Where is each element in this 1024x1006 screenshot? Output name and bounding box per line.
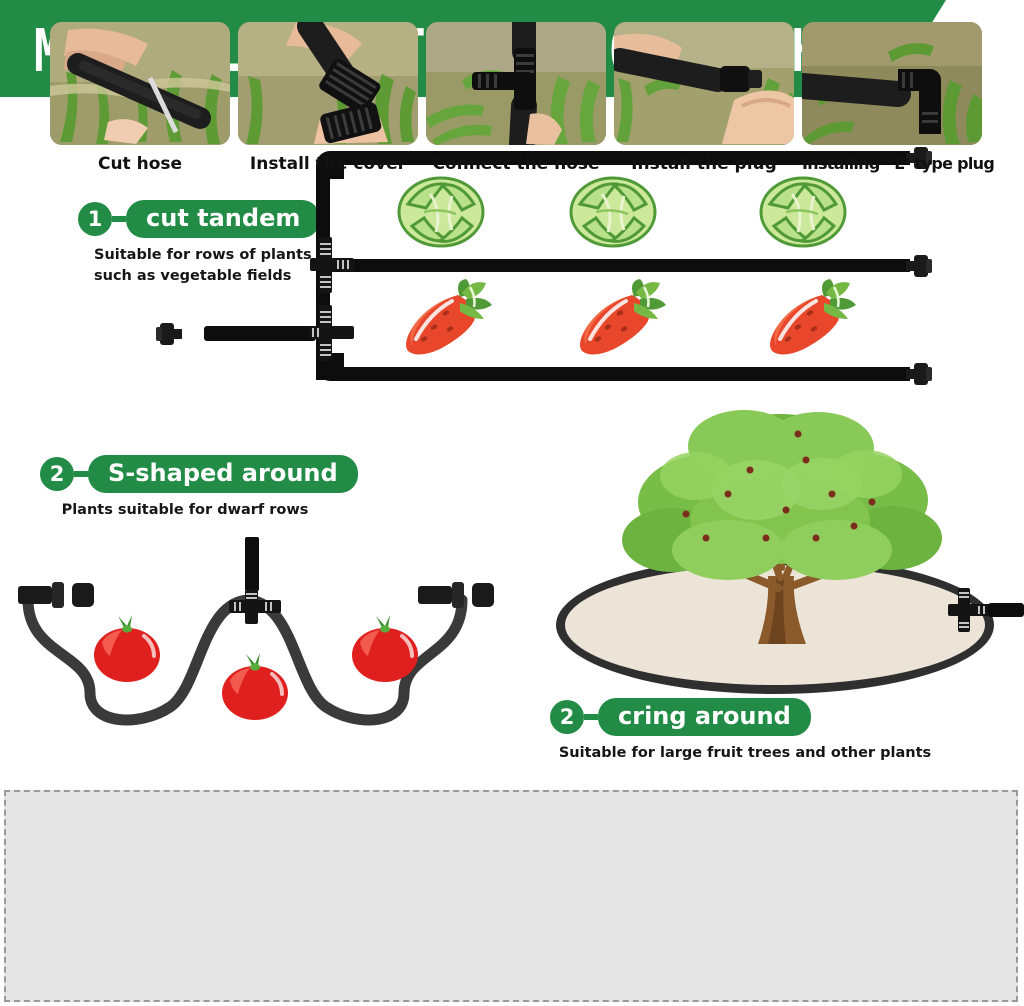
tee-rib <box>234 602 236 611</box>
tee-rib <box>342 260 344 269</box>
carrot-icon <box>562 277 670 368</box>
tee-rib <box>983 606 985 614</box>
step-item[interactable]: Connect the hose <box>426 22 606 174</box>
method-3-number: 2 <box>550 700 584 734</box>
method-2-subtitle-line1: Plants suitable for dwarf rows <box>40 500 330 521</box>
connector-neck <box>172 329 182 339</box>
method-1-label: 1 cut tandem Suitable for rows of plants… <box>78 200 320 287</box>
tee-rib <box>347 260 349 269</box>
tomato-icon <box>346 610 424 689</box>
method-2-subtitle: Plants suitable for dwarf rows <box>40 500 330 521</box>
tee-rib <box>320 276 331 278</box>
tee-rib <box>239 602 241 611</box>
tee-rib <box>317 328 319 337</box>
inlet-hose-segment <box>204 326 316 341</box>
cabbage-icon <box>566 174 660 255</box>
bottom-row-hose <box>330 367 910 381</box>
carrot-icon <box>388 277 496 368</box>
tee-rib <box>320 286 331 288</box>
step-caption: Cut hose <box>50 154 230 174</box>
method-2-number: 2 <box>40 457 74 491</box>
method-2-header: 2 S-shaped around <box>40 455 358 493</box>
installation-steps-strip <box>4 790 1018 1002</box>
method-1-subtitle-line1: Suitable for rows of plants <box>94 245 320 266</box>
connector-tip <box>156 327 162 341</box>
tee-rib <box>320 321 331 323</box>
end-plug-icon <box>906 363 932 385</box>
method-1-subtitle-line2: such as vegetable fields <box>94 266 320 287</box>
tee-rib <box>320 344 331 346</box>
tomato-icon <box>216 648 294 727</box>
tomato-icon <box>88 610 166 689</box>
step-caption: Install the plug <box>614 154 794 174</box>
tee-rib <box>265 602 267 611</box>
step-photo-install-plug[interactable] <box>614 22 794 145</box>
tee-rib <box>320 253 331 255</box>
method-3-subtitle: Suitable for large fruit trees and other… <box>550 743 940 764</box>
tee-horizontal <box>229 600 281 613</box>
tee-rib <box>320 316 331 318</box>
badge-connector <box>584 714 598 720</box>
middle-row-hose <box>330 259 910 272</box>
tee-rib <box>959 626 969 628</box>
plug-neck <box>906 261 916 271</box>
plug-tip <box>926 367 932 381</box>
tee-rib <box>959 592 969 594</box>
step-item[interactable]: Installing “L” type plug <box>802 22 982 174</box>
t-connector-s-center <box>229 590 275 624</box>
step-caption: Install the cover <box>238 154 418 174</box>
tee-rib <box>320 311 331 313</box>
step-item[interactable]: Install the plug <box>614 22 794 174</box>
inlet-connector-icon <box>156 323 182 345</box>
step-caption: Installing “L” type plug <box>802 154 982 173</box>
step-photo-install-cover[interactable] <box>238 22 418 145</box>
end-plug-icon <box>906 255 932 277</box>
carrot-icon <box>752 277 860 368</box>
method-1-header: 1 cut tandem <box>78 200 320 238</box>
method-1-number: 1 <box>78 202 112 236</box>
infographic-page: MULTIPLE INSTALLATION METHODS 1 cut tand… <box>0 0 1024 1006</box>
tee-rib <box>312 328 314 337</box>
tee-rib <box>320 354 331 356</box>
cabbage-icon <box>394 174 488 255</box>
t-connector-inlet <box>310 305 356 363</box>
method-2-title: S-shaped around <box>88 455 358 493</box>
tee-rib <box>978 606 980 614</box>
method-3-title: cring around <box>598 698 811 736</box>
tee-rib <box>320 281 331 283</box>
fruit-tree-icon <box>610 398 950 665</box>
step-photo-cut-hose[interactable] <box>50 22 230 145</box>
tee-rib <box>959 622 969 624</box>
step-photo-row: Cut hose <box>50 22 982 174</box>
badge-connector <box>112 216 126 222</box>
step-photo-install-l-plug[interactable] <box>802 22 982 145</box>
tee-rib <box>320 248 331 250</box>
t-connector-middle <box>310 237 356 295</box>
tee-rib <box>246 597 257 599</box>
tee-rib <box>246 593 257 595</box>
cabbage-icon <box>756 174 850 255</box>
tee-rib <box>337 260 339 269</box>
tee-rib <box>320 349 331 351</box>
step-item[interactable]: Install the cover <box>238 22 418 174</box>
plug-tip <box>926 259 932 273</box>
t-connector-ring <box>948 588 992 632</box>
method-1-subtitle: Suitable for rows of plants such as vege… <box>94 245 320 287</box>
plug-neck <box>906 369 916 379</box>
method-2-label: 2 S-shaped around Plants suitable for dw… <box>40 455 358 521</box>
method-3-label: 2 cring around Suitable for large fruit … <box>550 698 940 764</box>
ring-supply-hose <box>988 603 1024 617</box>
tee-rib <box>320 243 331 245</box>
s-center-riser <box>245 537 259 591</box>
method-1-title: cut tandem <box>126 200 320 238</box>
method-3-header: 2 cring around <box>550 698 940 736</box>
method-3-subtitle-line1: Suitable for large fruit trees and other… <box>550 743 940 764</box>
tee-rib <box>959 596 969 598</box>
step-caption: Connect the hose <box>426 154 606 174</box>
step-item[interactable]: Cut hose <box>50 22 230 174</box>
tee-rib <box>270 602 272 611</box>
step-photo-connect-hose[interactable] <box>426 22 606 145</box>
badge-connector <box>74 471 88 477</box>
